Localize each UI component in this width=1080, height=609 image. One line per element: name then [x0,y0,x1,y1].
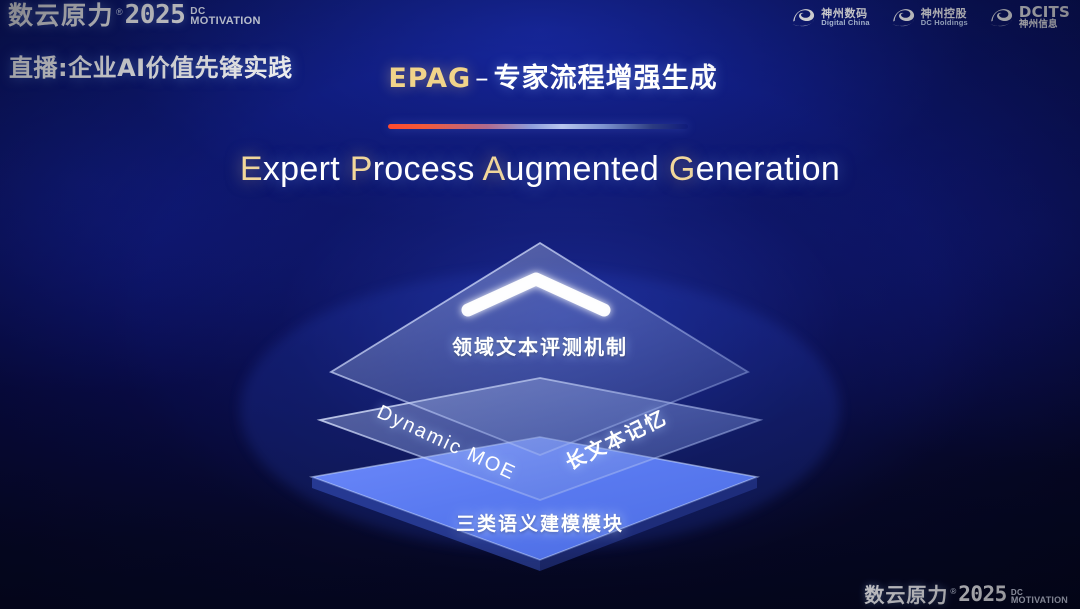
watermark-year: 2025 [958,584,1007,605]
slide-canvas: 数云原力 ® 2025 DC MOTIVATION 直播:企业AI价值先锋实践 … [0,0,1080,609]
watermark-dc-motivation: DC MOTIVATION [1011,589,1068,604]
stacked-layers-diagram: 领域文本评测机制 Dynamic MOE 长文本记忆 三类语义建模模块 [0,0,1080,609]
watermark-motivation: MOTIVATION [1011,596,1068,604]
watermark-cn: 数云原力 [864,585,948,605]
watermark-registered: ® [950,587,956,596]
footer-watermark: 数云原力 ® 2025 DC MOTIVATION [864,584,1068,605]
